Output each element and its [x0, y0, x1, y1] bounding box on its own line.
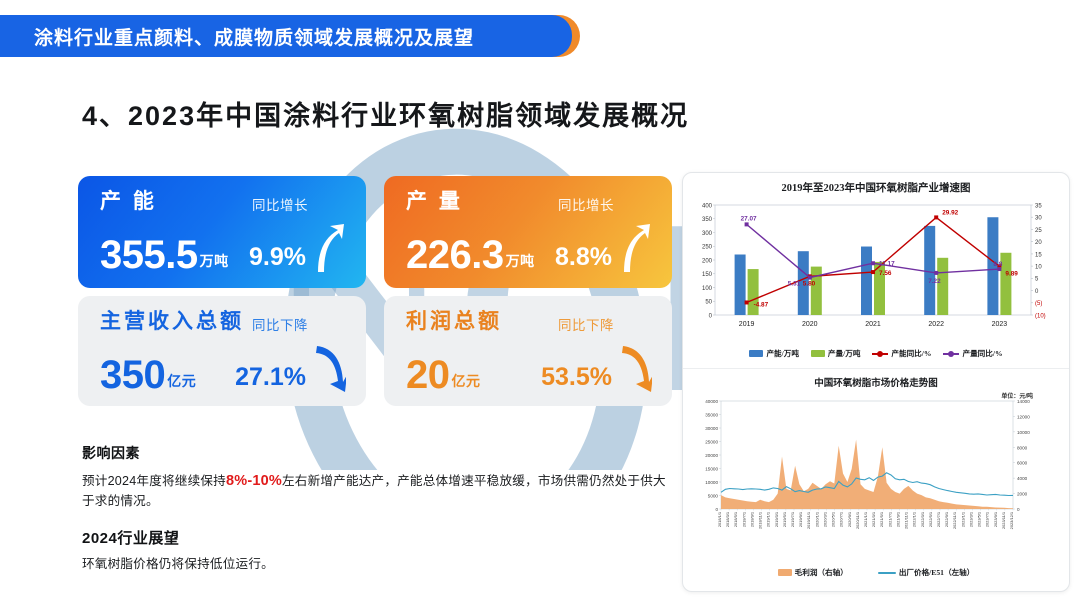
svg-text:2021: 2021: [865, 321, 881, 328]
svg-text:35: 35: [1035, 203, 1042, 209]
svg-text:2020/5/1: 2020/5/1: [831, 512, 836, 527]
svg-text:2022/7/1: 2022/7/1: [936, 512, 941, 527]
svg-text:2021/7/1: 2021/7/1: [887, 512, 892, 527]
svg-text:2023/5/1: 2023/5/1: [977, 512, 982, 527]
chart1-legend: 产能/万吨 产量/万吨 产能同比/% 产量同比/%: [683, 348, 1069, 359]
svg-text:-4.87: -4.87: [754, 301, 769, 308]
svg-text:2023/12/1: 2023/12/1: [1009, 512, 1014, 529]
svg-text:2022/11/1: 2022/11/1: [952, 512, 957, 529]
svg-text:15000: 15000: [705, 467, 718, 472]
svg-text:150: 150: [702, 272, 713, 278]
svg-text:2018/1/1: 2018/1/1: [717, 512, 722, 527]
svg-text:2020: 2020: [802, 321, 818, 328]
notes-block: 影响因素 预计2024年度将继续保持8%-10%左右新增产能达产，产能总体增速平…: [82, 443, 672, 575]
svg-text:2022/9/1: 2022/9/1: [944, 512, 949, 527]
svg-text:30: 30: [1035, 216, 1042, 222]
notes-p1-highlight: 8%-10%: [226, 473, 282, 489]
chart-market-price: 中国环氧树脂市场价格走势图 单位：元/吨 4000035000300002500…: [683, 369, 1069, 591]
svg-text:2019: 2019: [739, 321, 755, 328]
kpi-unit: 万吨: [200, 251, 229, 274]
kpi-sublabel: 同比下降: [558, 310, 614, 334]
svg-text:2020/11/1: 2020/11/1: [855, 512, 860, 529]
svg-text:2023/1/1: 2023/1/1: [960, 512, 965, 527]
kpi-percent: 27.1%: [235, 363, 306, 394]
svg-text:350: 350: [702, 217, 713, 223]
svg-text:2019/5/1: 2019/5/1: [782, 512, 787, 527]
legend-label: 毛利润（右轴）: [795, 567, 848, 578]
kpi-percent: 9.9%: [249, 243, 306, 274]
svg-text:2018/5/1: 2018/5/1: [733, 512, 738, 527]
svg-text:0: 0: [709, 313, 713, 319]
legend-item-capacity: 产能/万吨: [749, 348, 798, 359]
svg-text:30000: 30000: [705, 426, 718, 431]
svg-text:20000: 20000: [705, 453, 718, 458]
banner-title: 涂料行业重点颜料、成膜物质领域发展概况及展望: [0, 23, 474, 50]
legend-label: 产能/万吨: [766, 348, 798, 359]
svg-text:2019/11/1: 2019/11/1: [806, 512, 811, 529]
svg-text:50: 50: [705, 300, 712, 306]
kpi-percent: 8.8%: [555, 243, 612, 274]
svg-text:2023/9/1: 2023/9/1: [993, 512, 998, 527]
notes-heading-factors: 影响因素: [82, 443, 672, 463]
kpi-value: 226.3: [406, 236, 504, 274]
svg-text:7.22: 7.22: [928, 278, 941, 285]
kpi-card-revenue[interactable]: 主营收入总额 同比下降 350 亿元 27.1%: [78, 296, 366, 406]
svg-text:0: 0: [1035, 289, 1039, 295]
kpi-card-output[interactable]: 产 量 同比增长 226.3 万吨 8.8%: [384, 176, 672, 288]
svg-text:2023/7/1: 2023/7/1: [985, 512, 990, 527]
kpi-percent: 53.5%: [541, 363, 612, 394]
svg-text:400: 400: [702, 203, 713, 209]
svg-text:2021/3/1: 2021/3/1: [871, 512, 876, 527]
legend-label: 产量同比/%: [962, 348, 1002, 359]
legend-item-output-yoy: 产量同比/%: [943, 348, 1002, 359]
svg-text:20: 20: [1035, 240, 1042, 246]
svg-text:2019/3/1: 2019/3/1: [774, 512, 779, 527]
svg-text:2019/7/1: 2019/7/1: [790, 512, 795, 527]
kpi-value: 20: [406, 356, 450, 394]
kpi-label: 主营收入总额: [100, 310, 244, 333]
svg-text:2023: 2023: [992, 321, 1008, 328]
notes-paragraph-factors: 预计2024年度将继续保持8%-10%左右新增产能达产，产能总体增速平稳放缓，市…: [82, 470, 672, 512]
svg-text:2023/3/1: 2023/3/1: [968, 512, 973, 527]
page-title: 4、2023年中国涂料行业环氧树脂领域发展概况: [82, 94, 689, 133]
chart-industry-growth: 2019年至2023年中国环氧树脂产业增速图 40035030025020015…: [683, 173, 1069, 369]
svg-text:2022/5/1: 2022/5/1: [928, 512, 933, 527]
svg-text:15: 15: [1035, 252, 1042, 258]
chart2-plot: 4000035000300002500020000150001000050000…: [683, 389, 1070, 569]
svg-text:10000: 10000: [1017, 430, 1030, 435]
svg-text:300: 300: [702, 231, 713, 237]
svg-text:40000: 40000: [705, 399, 718, 404]
svg-text:5: 5: [1035, 277, 1039, 283]
slide-root: NCIA 涂料行业重点颜料、成膜物质领域发展概况及展望 4、2023年中国涂料行…: [0, 0, 1080, 607]
svg-text:(10): (10): [1035, 313, 1046, 319]
svg-text:2018/11/1: 2018/11/1: [758, 512, 763, 529]
legend-swatch-output: [811, 350, 825, 357]
notes-paragraph-outlook: 环氧树脂价格仍将保持低位运行。: [82, 555, 672, 575]
svg-text:27.07: 27.07: [741, 215, 757, 222]
kpi-sublabel: 同比增长: [252, 190, 308, 214]
svg-text:10000: 10000: [705, 480, 718, 485]
arrow-down-icon: [618, 342, 652, 394]
arrow-up-icon: [618, 222, 652, 274]
svg-text:100: 100: [702, 286, 713, 292]
chart2-unit-note: 单位：元/吨: [1001, 391, 1033, 400]
kpi-value: 350: [100, 356, 165, 394]
legend-swatch-capacity: [749, 350, 763, 357]
kpi-card-profit[interactable]: 利润总额 同比下降 20 亿元 53.5%: [384, 296, 672, 406]
svg-text:5000: 5000: [708, 494, 719, 499]
svg-text:2019/9/1: 2019/9/1: [798, 512, 803, 527]
svg-text:7.56: 7.56: [879, 270, 892, 277]
chart1-plot: 40035030025020015010050035302520151050(5…: [683, 195, 1070, 350]
svg-text:2022/1/1: 2022/1/1: [912, 512, 917, 527]
svg-text:35000: 35000: [705, 413, 718, 418]
svg-text:2021/5/1: 2021/5/1: [879, 512, 884, 527]
chart2-legend: 毛利润（右轴） 出厂价格/E51（左轴）: [683, 567, 1069, 578]
legend-item-capacity-yoy: 产能同比/%: [872, 348, 931, 359]
legend-swatch-output-yoy: [943, 353, 959, 355]
svg-text:2022/3/1: 2022/3/1: [920, 512, 925, 527]
svg-text:2018/9/1: 2018/9/1: [749, 512, 754, 527]
svg-text:250: 250: [702, 245, 713, 251]
banner-blue-bar: 涂料行业重点颜料、成膜物质领域发展概况及展望: [0, 15, 572, 57]
svg-text:2020/9/1: 2020/9/1: [847, 512, 852, 527]
svg-text:12000: 12000: [1017, 414, 1030, 419]
chart2-title: 中国环氧树脂市场价格走势图: [683, 369, 1069, 389]
svg-text:9.89: 9.89: [1005, 270, 1018, 277]
arrow-up-icon: [312, 222, 346, 274]
svg-text:6000: 6000: [1017, 461, 1028, 466]
legend-item-gross-profit: 毛利润（右轴）: [778, 567, 848, 578]
notes-p1-a: 预计2024年度将继续保持: [82, 474, 226, 488]
legend-label: 产能同比/%: [891, 348, 931, 359]
svg-text:200: 200: [702, 258, 713, 264]
legend-label: 出厂价格/E51（左轴）: [899, 567, 975, 578]
kpi-label: 产 能: [100, 190, 157, 213]
svg-text:25000: 25000: [705, 440, 718, 445]
legend-item-output: 产量/万吨: [811, 348, 860, 359]
svg-text:29.92: 29.92: [942, 209, 958, 216]
svg-text:2022: 2022: [928, 321, 944, 328]
svg-text:8000: 8000: [1017, 445, 1028, 450]
svg-text:2018/7/1: 2018/7/1: [741, 512, 746, 527]
svg-text:10: 10: [1035, 265, 1042, 271]
kpi-unit: 亿元: [452, 371, 481, 394]
svg-text:5.80: 5.80: [803, 280, 816, 287]
kpi-sublabel: 同比下降: [252, 310, 308, 334]
kpi-unit: 亿元: [167, 371, 196, 394]
svg-text:2018/3/1: 2018/3/1: [725, 512, 730, 527]
legend-swatch-gross-profit: [778, 569, 792, 576]
kpi-value: 355.5: [100, 236, 198, 274]
svg-text:4000: 4000: [1017, 476, 1028, 481]
kpi-card-capacity[interactable]: 产 能 同比增长 355.5 万吨 9.9%: [78, 176, 366, 288]
svg-text:2019/1/1: 2019/1/1: [766, 512, 771, 527]
svg-text:2021/11/1: 2021/11/1: [904, 512, 909, 529]
legend-item-ex-factory-price: 出厂价格/E51（左轴）: [878, 567, 975, 578]
kpi-sublabel: 同比增长: [558, 190, 614, 214]
kpi-grid: 产 能 同比增长 355.5 万吨 9.9% 产 量 同比增长 226.3 万吨…: [78, 176, 672, 416]
arrow-down-icon: [312, 342, 346, 394]
kpi-label: 利润总额: [406, 310, 502, 333]
notes-heading-outlook: 2024行业展望: [82, 527, 672, 548]
svg-text:25: 25: [1035, 228, 1042, 234]
svg-text:2021/1/1: 2021/1/1: [863, 512, 868, 527]
legend-swatch-ex-factory-price: [878, 572, 896, 574]
charts-panel: 2019年至2023年中国环氧树脂产业增速图 40035030025020015…: [682, 172, 1070, 592]
svg-text:2020/1/1: 2020/1/1: [814, 512, 819, 527]
kpi-label: 产 量: [406, 190, 463, 213]
svg-text:11.17: 11.17: [879, 260, 895, 267]
svg-text:2020/3/1: 2020/3/1: [822, 512, 827, 527]
kpi-unit: 万吨: [506, 251, 535, 274]
legend-label: 产量/万吨: [828, 348, 860, 359]
svg-text:0: 0: [1017, 507, 1020, 512]
svg-text:8.8: 8.8: [993, 261, 1002, 268]
svg-text:2000: 2000: [1017, 492, 1028, 497]
chart1-title: 2019年至2023年中国环氧树脂产业增速图: [683, 173, 1069, 195]
svg-text:(5): (5): [1035, 301, 1042, 307]
svg-text:2020/7/1: 2020/7/1: [839, 512, 844, 527]
svg-text:5.31: 5.31: [788, 281, 801, 288]
svg-text:2021/9/1: 2021/9/1: [895, 512, 900, 527]
legend-swatch-capacity-yoy: [872, 353, 888, 355]
svg-text:0: 0: [715, 507, 718, 512]
svg-text:2023/11/1: 2023/11/1: [1001, 512, 1006, 529]
